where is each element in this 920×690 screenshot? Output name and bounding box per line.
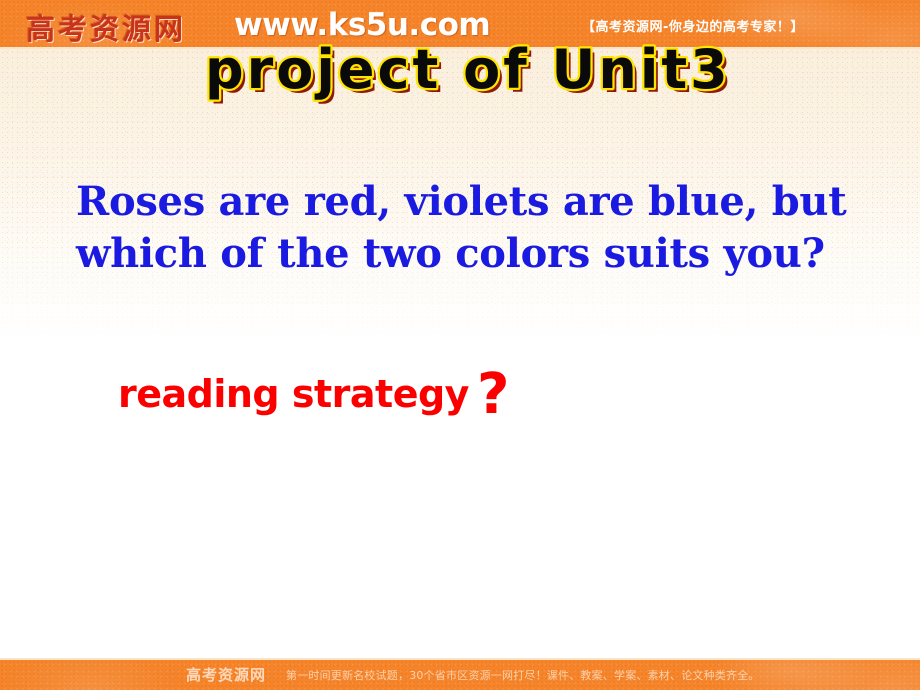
verse-line-2: which of the two colors suits you? [76, 228, 876, 280]
slide-title-main-layer: project of Unit3 [205, 38, 731, 101]
brand-logo: 高考资源网 [26, 6, 186, 48]
question-mark-icon: ? [477, 362, 509, 427]
footer-logo: 高考资源网 [186, 664, 266, 685]
slide-title: project of Unit3 project of Unit3 [0, 44, 920, 106]
verse-block: Roses are red, violets are blue, but whi… [76, 176, 876, 280]
footer-note: 第一时间更新名校试题，30个省市区资源一网打尽！课件、教案、学案、素材、论文种类… [286, 667, 760, 683]
reading-strategy-label: reading strategy [118, 372, 469, 416]
slide-title-wordart: project of Unit3 project of Unit3 [0, 44, 920, 106]
reading-strategy-prompt: reading strategy? [118, 372, 501, 416]
brand-tagline: 【高考资源网-你身边的高考专家！】 [582, 16, 804, 35]
verse-line-1: Roses are red, violets are blue, but [76, 176, 876, 228]
slide-canvas: 高考资源网 www.ks5u.com 【高考资源网-你身边的高考专家！】 pro… [0, 0, 920, 690]
